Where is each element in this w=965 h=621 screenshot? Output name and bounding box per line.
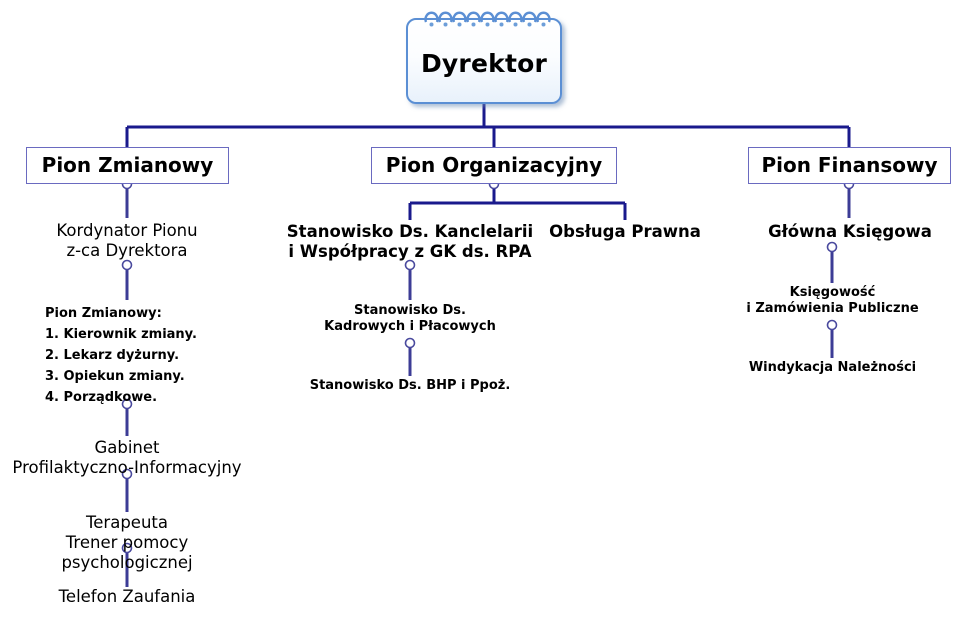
node-obsluga-prawna[interactable]: Obsługa Prawna xyxy=(540,222,710,242)
joint-ksiegowosc xyxy=(828,321,837,330)
spiral-rings xyxy=(426,13,550,22)
node-glowna-ksiegowa[interactable]: Główna Księgowa xyxy=(740,222,960,242)
right-column-connectors xyxy=(832,184,849,358)
org-chart-canvas: Dyrektor Pion Zmianowy Pion Organizacyjn… xyxy=(0,0,965,621)
node-pion-zmianowy-label: Pion Zmianowy xyxy=(42,155,214,176)
node-gabinet-profilaktyczno-informacyjny[interactable]: Gabinet Profilaktyczno-Informacyjny xyxy=(7,438,247,478)
node-terapeuta[interactable]: Terapeuta Trener pomocy psychologicznej xyxy=(5,513,249,573)
node-pion-finansowy-label: Pion Finansowy xyxy=(761,155,937,176)
joint-kordynator xyxy=(123,261,132,270)
spiral-ring-tips xyxy=(430,23,546,27)
joint-kadry xyxy=(406,339,415,348)
node-pion-zmianowy-list[interactable]: Pion Zmianowy: 1. Kierownik zmiany. 2. L… xyxy=(45,303,255,408)
joint-glowna-ksiegowa xyxy=(828,243,837,252)
node-pion-organizacyjny-label: Pion Organizacyjny xyxy=(386,155,602,176)
notepad-spiral-binding xyxy=(406,8,562,34)
node-telefon-zaufania[interactable]: Telefon Zaufania xyxy=(7,587,247,607)
node-pion-organizacyjny[interactable]: Pion Organizacyjny xyxy=(371,147,617,184)
node-stanowisko-bhp[interactable]: Stanowisko Ds. BHP i Ppoż. xyxy=(295,378,525,394)
node-pion-zmianowy[interactable]: Pion Zmianowy xyxy=(26,147,229,184)
node-pion-finansowy[interactable]: Pion Finansowy xyxy=(748,147,951,184)
node-stanowisko-kadrowych[interactable]: Stanowisko Ds. Kadrowych i Płacowych xyxy=(300,303,520,335)
node-ksiegowosc[interactable]: Księgowość i Zamówienia Publiczne xyxy=(730,285,935,317)
node-stanowisko-kanclelarii[interactable]: Stanowisko Ds. Kanclelarii i Współpracy … xyxy=(270,222,550,262)
node-windykacja[interactable]: Windykacja Należności xyxy=(730,360,935,376)
node-dyrektor-label: Dyrektor xyxy=(421,44,547,78)
root-bus-connectors xyxy=(127,104,849,148)
middle-split-connectors xyxy=(410,184,625,220)
node-kordynator-pionu[interactable]: Kordynator Pionu z-ca Dyrektora xyxy=(7,221,247,261)
